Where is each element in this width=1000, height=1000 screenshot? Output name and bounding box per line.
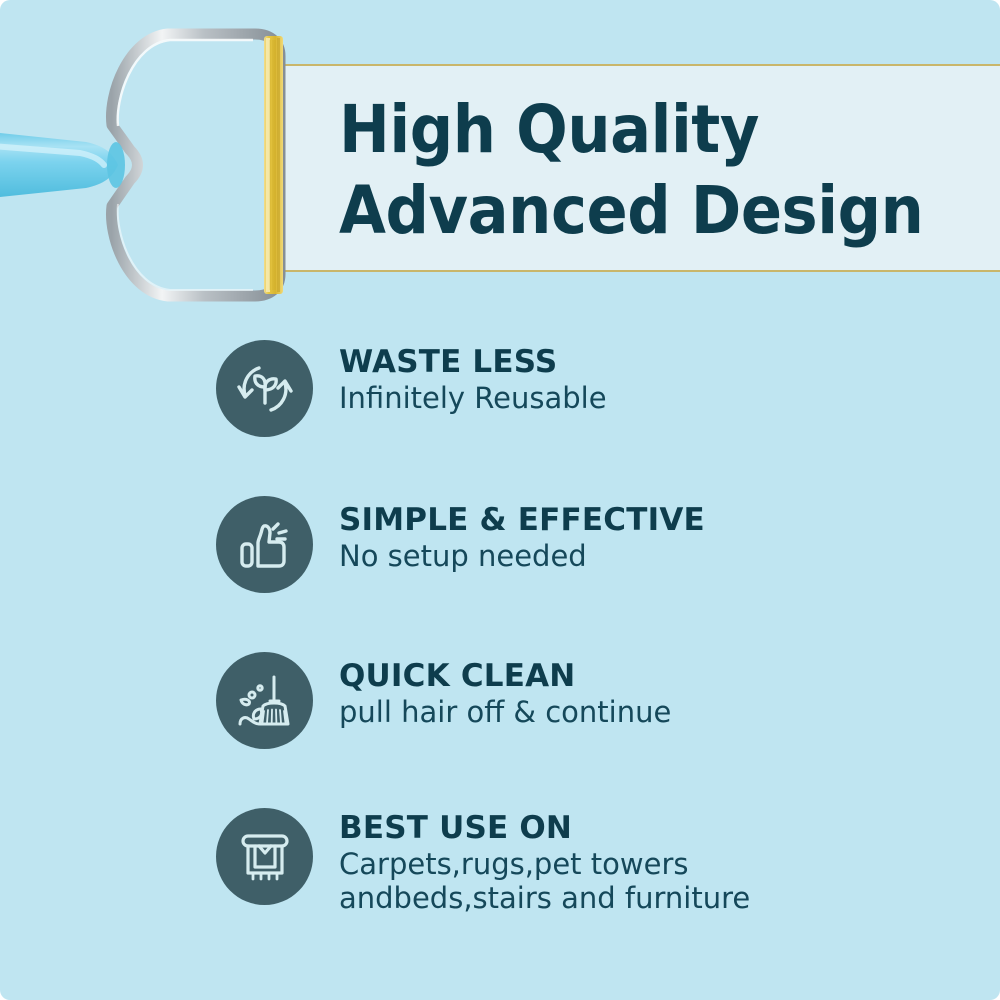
- feature-title: SIMPLE & EFFECTIVE: [339, 504, 705, 537]
- feature-subtitle: pull hair off & continue: [339, 696, 671, 729]
- feature-text-block: SIMPLE & EFFECTIVE No setup needed: [339, 494, 705, 574]
- product-infographic-poster: High Quality Advanced Design: [0, 0, 1000, 1000]
- feature-title: BEST USE ON: [339, 812, 750, 845]
- feature-text-block: QUICK CLEAN pull hair off & continue: [339, 650, 671, 730]
- chrome-wire-frame-head: [111, 34, 280, 296]
- feature-title: WASTE LESS: [339, 346, 607, 379]
- feature-row: SIMPLE & EFFECTIVE No setup needed: [216, 494, 1000, 593]
- furniture-icon: [216, 808, 313, 905]
- recycle-sprout-icon: [216, 340, 313, 437]
- feature-row: BEST USE ON Carpets,rugs,pet towers andb…: [216, 806, 1000, 915]
- feature-row: QUICK CLEAN pull hair off & continue: [216, 650, 1000, 749]
- broom-icon: [216, 652, 313, 749]
- hero-banner: High Quality Advanced Design: [283, 64, 1000, 272]
- feature-text-block: BEST USE ON Carpets,rugs,pet towers andb…: [339, 806, 750, 915]
- thumbs-up-icon: [216, 496, 313, 593]
- product-tool-illustration: [0, 0, 300, 330]
- feature-subtitle: Infinitely Reusable: [339, 382, 607, 415]
- feature-list: WASTE LESS Infinitely Reusable SIMP: [216, 338, 1000, 915]
- feature-subtitle: No setup needed: [339, 540, 705, 573]
- feature-text-block: WASTE LESS Infinitely Reusable: [339, 338, 607, 416]
- feature-subtitle: Carpets,rugs,pet towers andbeds,stairs a…: [339, 848, 750, 914]
- feature-row: WASTE LESS Infinitely Reusable: [216, 338, 1000, 437]
- blue-handle: [0, 132, 125, 198]
- feature-title: QUICK CLEAN: [339, 660, 671, 693]
- brass-comb-blade: [264, 36, 283, 294]
- hero-title: High Quality Advanced Design: [339, 90, 937, 251]
